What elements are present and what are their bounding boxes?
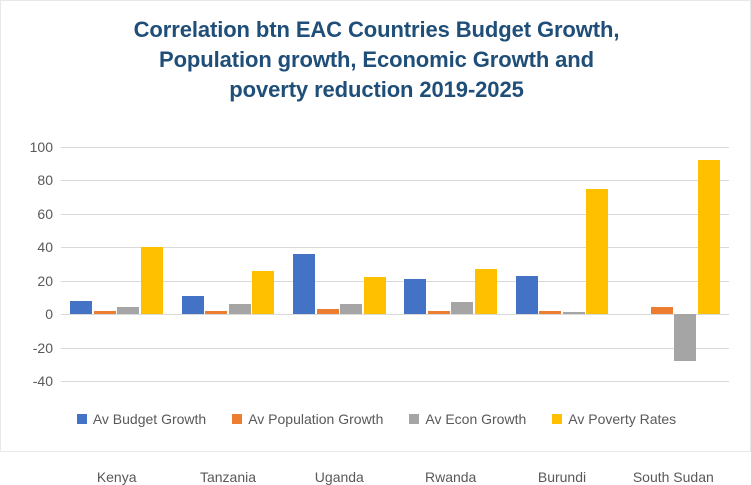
bar[interactable] bbox=[70, 301, 92, 314]
legend-item[interactable]: Av Population Growth bbox=[232, 411, 383, 427]
bar[interactable] bbox=[364, 277, 386, 314]
bar[interactable] bbox=[674, 314, 696, 361]
bar[interactable] bbox=[651, 307, 673, 314]
bar[interactable] bbox=[252, 271, 274, 314]
bar[interactable] bbox=[516, 276, 538, 314]
legend-label: Av Population Growth bbox=[248, 411, 383, 427]
x-axis-category-label: Rwanda bbox=[395, 469, 506, 485]
bar[interactable] bbox=[317, 309, 339, 314]
chart-title-line-3: poverty reduction 2019-2025 bbox=[61, 75, 692, 105]
bar[interactable] bbox=[475, 269, 497, 314]
chart-container: Correlation btn EAC Countries Budget Gro… bbox=[0, 0, 751, 452]
legend-swatch-icon bbox=[409, 414, 419, 424]
y-axis-tick-label: 0 bbox=[5, 307, 53, 321]
chart-legend: Av Budget GrowthAv Population GrowthAv E… bbox=[1, 411, 751, 427]
legend-item[interactable]: Av Budget Growth bbox=[77, 411, 206, 427]
x-axis-category-label: Uganda bbox=[284, 469, 395, 485]
bar[interactable] bbox=[141, 247, 163, 314]
y-axis-tick-label: 100 bbox=[5, 140, 53, 154]
legend-label: Av Poverty Rates bbox=[568, 411, 676, 427]
chart-title-line-1: Correlation btn EAC Countries Budget Gro… bbox=[61, 15, 692, 45]
legend-label: Av Budget Growth bbox=[93, 411, 206, 427]
bar-group bbox=[172, 147, 283, 381]
bar[interactable] bbox=[229, 304, 251, 314]
y-axis-tick-label: 40 bbox=[5, 240, 53, 254]
bar[interactable] bbox=[451, 302, 473, 314]
bar[interactable] bbox=[428, 311, 450, 314]
bar[interactable] bbox=[698, 160, 720, 314]
x-axis-category-label: Tanzania bbox=[172, 469, 283, 485]
x-axis-category-label: Kenya bbox=[61, 469, 172, 485]
y-axis-tick-label: 60 bbox=[5, 207, 53, 221]
bar-group bbox=[61, 147, 172, 381]
bar[interactable] bbox=[117, 307, 139, 314]
chart-title-line-2: Population growth, Economic Growth and bbox=[61, 45, 692, 75]
bar[interactable] bbox=[563, 312, 585, 314]
bar-group bbox=[506, 147, 617, 381]
y-axis-tick-label: -20 bbox=[5, 341, 53, 355]
y-axis-tick-label: 20 bbox=[5, 274, 53, 288]
legend-swatch-icon bbox=[232, 414, 242, 424]
y-axis: 100806040200-20-40 bbox=[1, 147, 53, 381]
gridline bbox=[61, 381, 729, 382]
legend-swatch-icon bbox=[77, 414, 87, 424]
bar-group bbox=[395, 147, 506, 381]
legend-item[interactable]: Av Econ Growth bbox=[409, 411, 526, 427]
legend-item[interactable]: Av Poverty Rates bbox=[552, 411, 676, 427]
bar[interactable] bbox=[539, 311, 561, 314]
y-axis-tick-label: -40 bbox=[5, 374, 53, 388]
bar-group bbox=[618, 147, 729, 381]
legend-swatch-icon bbox=[552, 414, 562, 424]
bar[interactable] bbox=[94, 311, 116, 314]
bar-group bbox=[284, 147, 395, 381]
bar[interactable] bbox=[586, 189, 608, 314]
y-axis-tick-label: 80 bbox=[5, 173, 53, 187]
bar[interactable] bbox=[293, 254, 315, 314]
x-axis-category-label: Burundi bbox=[506, 469, 617, 485]
bar[interactable] bbox=[205, 311, 227, 314]
bar[interactable] bbox=[340, 304, 362, 314]
chart-title: Correlation btn EAC Countries Budget Gro… bbox=[61, 15, 692, 105]
plot-area: KenyaTanzaniaUgandaRwandaBurundiSouth Su… bbox=[61, 147, 729, 381]
bar[interactable] bbox=[404, 279, 426, 314]
legend-label: Av Econ Growth bbox=[425, 411, 526, 427]
x-axis-category-label: South Sudan bbox=[618, 469, 729, 485]
bar[interactable] bbox=[182, 296, 204, 314]
